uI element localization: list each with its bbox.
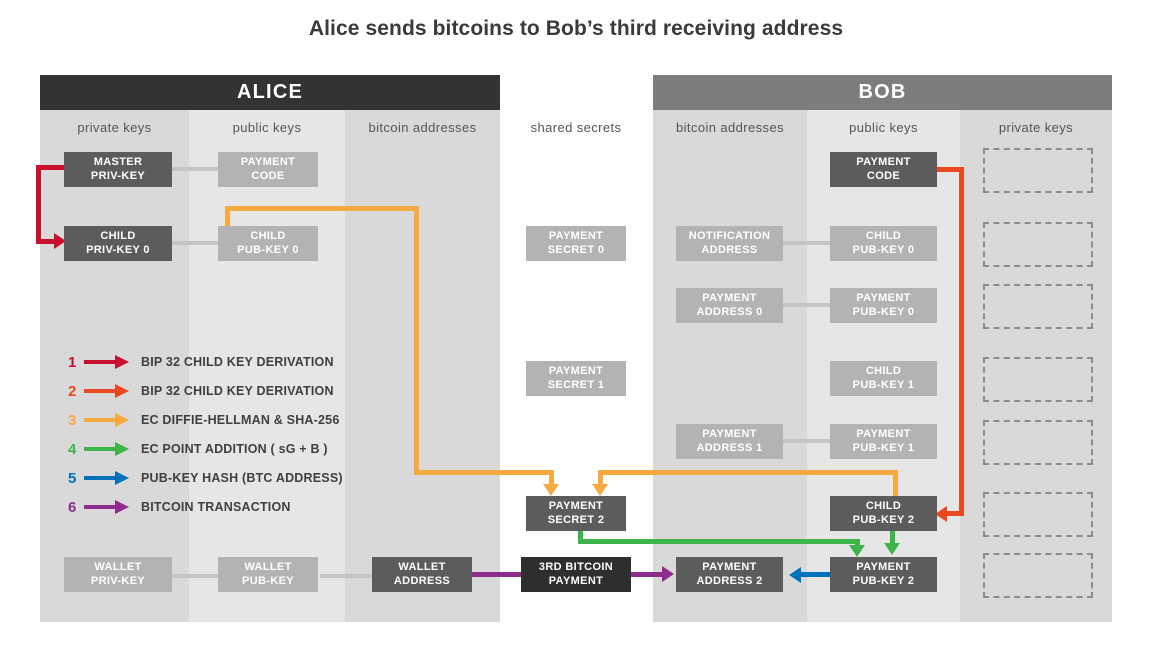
node-line-1: PAYMENT (549, 365, 603, 379)
node-third-bitcoin-payment[interactable]: 3RD BITCOIN PAYMENT (521, 557, 631, 592)
node-bob-child-pubkey-1[interactable]: CHILD PUB-KEY 1 (830, 361, 937, 396)
legend-number-1: 1 (68, 354, 84, 371)
node-shared-payment-secret-0[interactable]: PAYMENT SECRET 0 (526, 226, 626, 261)
node-bob-payment-address-0[interactable]: PAYMENT ADDRESS 0 (676, 288, 783, 323)
legend-label-1: BIP 32 CHILD KEY DERIVATION (141, 355, 334, 369)
ghost-bob-private-key-3 (983, 357, 1093, 402)
node-alice-child-pubkey-0[interactable]: CHILD PUB-KEY 0 (218, 226, 318, 261)
legend-arrow-1 (84, 355, 132, 369)
node-line-1: PAYMENT (549, 500, 603, 514)
node-bob-notification-address[interactable]: NOTIFICATION ADDRESS (676, 226, 783, 261)
node-shared-payment-secret-2[interactable]: PAYMENT SECRET 2 (526, 496, 626, 531)
bob-public-keys-header: public keys (807, 120, 960, 135)
legend-arrow-3 (84, 413, 132, 427)
node-line-1: PAYMENT (241, 156, 295, 170)
node-line-2: PRIV-KEY (91, 170, 145, 184)
ghost-bob-private-key-0 (983, 148, 1093, 193)
link-wallet-privkey-wallet-pubkey (170, 574, 220, 578)
ghost-bob-private-key-2 (983, 284, 1093, 329)
legend-row-4: 4 EC POINT ADDITION ( sG + B ) (68, 439, 328, 459)
node-alice-wallet-address[interactable]: WALLET ADDRESS (372, 557, 472, 592)
legend-arrow-2 (84, 384, 132, 398)
link-master-privkey-payment-code (170, 167, 220, 171)
legend-label-4: EC POINT ADDITION ( sG + B ) (141, 442, 328, 456)
node-bob-child-pubkey-2[interactable]: CHILD PUB-KEY 2 (830, 496, 937, 531)
flow-amber-right-h (598, 470, 898, 475)
diagram-canvas: Alice sends bitcoins to Bob’s third rece… (0, 0, 1152, 649)
flow-red-h-bottom (36, 239, 56, 244)
flow-orange-v (959, 167, 964, 516)
node-line-1: PAYMENT (856, 156, 910, 170)
node-line-1: NOTIFICATION (689, 230, 771, 244)
legend-number-4: 4 (68, 441, 84, 458)
bob-bitcoin-addresses-column (653, 110, 807, 622)
alice-panel-header: ALICE (40, 75, 500, 110)
legend-number-6: 6 (68, 499, 84, 516)
node-line-1: PAYMENT (702, 292, 756, 306)
node-line-2: CODE (867, 170, 900, 184)
flow-blue-arrowhead (789, 567, 801, 583)
legend-arrow-5 (84, 471, 132, 485)
node-line-2: PUB-KEY 2 (853, 575, 915, 589)
bob-private-keys-header: private keys (960, 120, 1112, 135)
node-line-2: PUB-KEY 1 (853, 442, 915, 456)
flow-green-h (578, 539, 651, 544)
legend-number-3: 3 (68, 412, 84, 429)
node-line-1: PAYMENT (702, 428, 756, 442)
node-line-1: CHILD (866, 230, 901, 244)
legend-label-6: BITCOIN TRANSACTION (141, 500, 291, 514)
node-line-2: ADDRESS (394, 575, 450, 589)
legend: 1 BIP 32 CHILD KEY DERIVATION 2 BIP 32 C… (68, 352, 368, 527)
node-bob-payment-address-1[interactable]: PAYMENT ADDRESS 1 (676, 424, 783, 459)
link-child-privkey0-child-pubkey0 (170, 241, 220, 245)
node-line-2: ADDRESS 2 (696, 575, 762, 589)
ghost-bob-private-key-1 (983, 222, 1093, 267)
node-line-1: MASTER (94, 156, 143, 170)
node-line-1: 3RD BITCOIN (539, 561, 613, 575)
node-line-1: CHILD (866, 500, 901, 514)
node-bob-payment-pubkey-1[interactable]: PAYMENT PUB-KEY 1 (830, 424, 937, 459)
node-alice-master-privkey[interactable]: MASTER PRIV-KEY (64, 152, 172, 187)
node-line-2: PUB-KEY (242, 575, 294, 589)
node-line-2: ADDRESS 0 (696, 306, 762, 320)
node-line-2: PRIV-KEY (91, 575, 145, 589)
legend-number-2: 2 (68, 383, 84, 400)
node-line-2: PAYMENT (549, 575, 603, 589)
node-bob-payment-pubkey-0[interactable]: PAYMENT PUB-KEY 0 (830, 288, 937, 323)
alice-bitcoin-addresses-header: bitcoin addresses (345, 120, 500, 135)
flow-purple-h-left (472, 572, 521, 577)
page-title: Alice sends bitcoins to Bob’s third rece… (0, 17, 1152, 41)
node-line-1: PAYMENT (549, 230, 603, 244)
node-shared-payment-secret-1[interactable]: PAYMENT SECRET 1 (526, 361, 626, 396)
node-line-2: SECRET 2 (548, 514, 605, 528)
flow-green-arrowhead-left (849, 545, 865, 557)
node-line-2: PUB-KEY 0 (853, 306, 915, 320)
node-line-1: WALLET (398, 561, 445, 575)
flow-blue-h (800, 572, 830, 577)
flow-red-v (36, 165, 41, 243)
flow-orange-h-bottom (946, 511, 964, 516)
node-line-2: PUB-KEY 1 (853, 379, 915, 393)
alice-public-keys-header: public keys (189, 120, 345, 135)
node-bob-payment-pubkey-2[interactable]: PAYMENT PUB-KEY 2 (830, 557, 937, 592)
legend-label-3: EC DIFFIE-HELLMAN & SHA-256 (141, 413, 339, 427)
link-wallet-pubkey-wallet-address (320, 574, 372, 578)
node-line-1: PAYMENT (856, 428, 910, 442)
ghost-bob-private-key-6 (983, 553, 1093, 598)
alice-header-label: ALICE (237, 81, 303, 104)
legend-label-5: PUB-KEY HASH (BTC ADDRESS) (141, 471, 343, 485)
alice-private-keys-header: private keys (40, 120, 189, 135)
link-notification-address-child-pubkey0 (782, 241, 832, 245)
node-line-1: CHILD (250, 230, 285, 244)
alice-bitcoin-addresses-column (345, 110, 500, 622)
legend-arrow-4 (84, 442, 132, 456)
legend-number-5: 5 (68, 470, 84, 487)
link-payment-address0-payment-pubkey0 (782, 303, 832, 307)
node-line-2: ADDRESS (701, 244, 757, 258)
node-line-2: PUB-KEY 2 (853, 514, 915, 528)
node-line-2: CODE (251, 170, 284, 184)
node-line-1: WALLET (244, 561, 291, 575)
shared-secrets-header: shared secrets (512, 120, 640, 135)
flow-amber-left-v-down (414, 206, 419, 474)
node-alice-wallet-pubkey[interactable]: WALLET PUB-KEY (218, 557, 318, 592)
node-alice-payment-code[interactable]: PAYMENT CODE (218, 152, 318, 187)
legend-row-3: 3 EC DIFFIE-HELLMAN & SHA-256 (68, 410, 339, 430)
flow-green-arrowhead-right (884, 543, 900, 555)
legend-row-6: 6 BITCOIN TRANSACTION (68, 497, 291, 517)
link-payment-address1-payment-pubkey1 (782, 439, 832, 443)
node-line-2: PRIV-KEY 0 (86, 244, 150, 258)
node-bob-child-pubkey-0[interactable]: CHILD PUB-KEY 0 (830, 226, 937, 261)
node-line-1: CHILD (100, 230, 135, 244)
legend-row-5: 5 PUB-KEY HASH (BTC ADDRESS) (68, 468, 343, 488)
node-line-1: PAYMENT (702, 561, 756, 575)
legend-arrow-6 (84, 500, 132, 514)
flow-amber-left-h-bottom (414, 470, 554, 475)
node-line-2: PUB-KEY 0 (853, 244, 915, 258)
node-bob-payment-code[interactable]: PAYMENT CODE (830, 152, 937, 187)
node-line-1: CHILD (866, 365, 901, 379)
legend-label-2: BIP 32 CHILD KEY DERIVATION (141, 384, 334, 398)
node-line-2: PUB-KEY 0 (237, 244, 299, 258)
flow-amber-left-h-top (225, 206, 419, 211)
bob-panel-header: BOB (653, 75, 1112, 110)
flow-purple-h-right (631, 572, 664, 577)
ghost-bob-private-key-4 (983, 420, 1093, 465)
flow-amber-left-arrowhead (543, 484, 559, 496)
flow-amber-right-arrowhead (592, 484, 608, 496)
bob-header-label: BOB (858, 81, 906, 104)
flow-purple-arrowhead (662, 566, 674, 582)
node-bob-payment-address-2[interactable]: PAYMENT ADDRESS 2 (676, 557, 783, 592)
ghost-bob-private-key-5 (983, 492, 1093, 537)
legend-row-1: 1 BIP 32 CHILD KEY DERIVATION (68, 352, 334, 372)
flow-amber-right-v-from-node (893, 470, 898, 497)
legend-row-2: 2 BIP 32 CHILD KEY DERIVATION (68, 381, 334, 401)
flow-green-h2 (651, 539, 859, 544)
node-line-1: PAYMENT (856, 561, 910, 575)
node-alice-wallet-privkey[interactable]: WALLET PRIV-KEY (64, 557, 172, 592)
node-line-1: PAYMENT (856, 292, 910, 306)
node-line-2: SECRET 1 (548, 379, 605, 393)
bob-bitcoin-addresses-header: bitcoin addresses (653, 120, 807, 135)
node-alice-child-privkey-0[interactable]: CHILD PRIV-KEY 0 (64, 226, 172, 261)
node-line-2: ADDRESS 1 (696, 442, 762, 456)
node-line-2: SECRET 0 (548, 244, 605, 258)
node-line-1: WALLET (94, 561, 141, 575)
